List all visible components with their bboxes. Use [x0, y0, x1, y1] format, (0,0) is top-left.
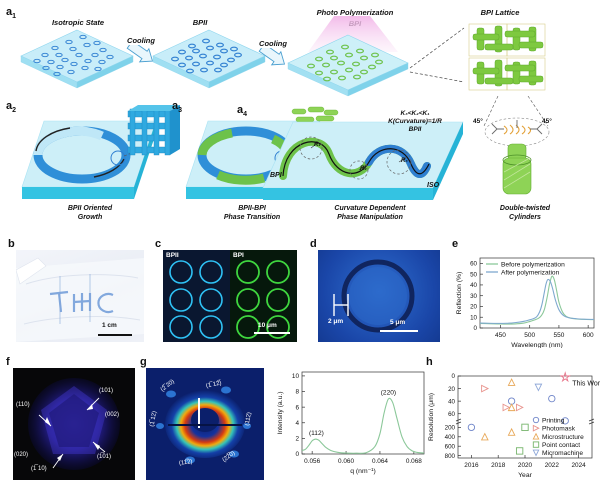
svg-text:0: 0 [295, 451, 299, 458]
panel-label-a1: a1 [6, 6, 16, 20]
svg-text:2016: 2016 [464, 462, 479, 469]
caption-a3: BPII-BPIPhase Transition [192, 205, 312, 223]
panel-c-label-bpi: BPI [233, 252, 244, 259]
svg-text:Micromachine: Micromachine [542, 450, 583, 457]
svg-text:0.068: 0.068 [406, 458, 422, 465]
panel-b-photograph: 1 cm [16, 250, 144, 342]
svg-text:2020: 2020 [518, 462, 533, 469]
svg-text:0.056: 0.056 [304, 458, 320, 465]
panel-c-scale-bar [254, 332, 290, 334]
panel-f-index-002: (002) [105, 412, 119, 418]
panel-g-saxs-pattern: (2̅ 20) (1̅ 12̅) (1̅ 12) (112) (11̅2) (2… [146, 368, 264, 480]
panel-d-thickness-label: 2 μm [328, 318, 343, 325]
svg-text:Resolution (μm): Resolution (μm) [428, 393, 435, 441]
panel-c-fluorescence-bpi: BPI 10 μm [230, 250, 297, 342]
svg-text:550: 550 [553, 332, 564, 339]
caption-double-twisted-cylinders: Double-twistedCylinders [470, 205, 580, 223]
svg-text:0.060: 0.060 [338, 458, 354, 465]
a4-label-bpi: BPI [270, 172, 282, 179]
panel-g-intensity-chart: 02468100.0560.0600.0640.068q (nm⁻¹)Inten… [272, 362, 432, 484]
panel-h-chart: 020406020040060080020162018202020222024Y… [424, 362, 600, 486]
svg-text:Wavelength (nm): Wavelength (nm) [511, 342, 563, 348]
panel-c-fluorescence-bpii: BPII [163, 250, 230, 342]
svg-text:50: 50 [470, 271, 477, 278]
double-twisted-cylinder-model [470, 96, 565, 198]
plate-photopolymerized [286, 32, 411, 98]
svg-text:Year: Year [518, 472, 532, 479]
panel-d-microscopy: 2 μm 5 μm [318, 250, 440, 342]
svg-text:Photomask: Photomask [542, 426, 576, 433]
saxs-intensity-plot: 02468100.0560.0600.0640.068q (nm⁻¹)Inten… [272, 362, 432, 484]
svg-text:Point contact: Point contact [542, 442, 580, 449]
plate-bpii [152, 28, 267, 90]
svg-text:After polymerization: After polymerization [501, 269, 560, 276]
panel-b-scale-label: 1 cm [102, 322, 117, 329]
svg-text:400: 400 [445, 434, 456, 441]
svg-text:q (nm⁻¹): q (nm⁻¹) [350, 468, 376, 475]
arrow-cooling-2 [256, 48, 290, 70]
a4-radius-2: R₂ [360, 166, 367, 172]
stage-label-isotropic: Isotropic State [33, 18, 123, 27]
a4-radius-1: R₁ [314, 142, 320, 148]
resolution-vs-year-plot: 020406020040060080020162018202020222024Y… [424, 362, 600, 486]
panel-label-g: g [140, 356, 147, 368]
panel-d-scale-label: 5 μm [390, 319, 405, 326]
plate-isotropic [20, 28, 135, 90]
svg-text:20: 20 [448, 386, 455, 393]
panel-f-index-110: (110) [16, 402, 30, 408]
angle-label-left: 45° [473, 118, 483, 125]
svg-text:Intensity (a.u.): Intensity (a.u.) [277, 391, 284, 434]
svg-text:800: 800 [445, 453, 456, 460]
panel-label-d: d [310, 238, 317, 250]
panel-b-scale-bar [98, 334, 132, 336]
panel-label-b: b [8, 238, 15, 250]
a4-equation: K₃<K₂<K₁ K(Curvature)=1/R BPII [360, 110, 470, 134]
svg-text:0: 0 [452, 373, 456, 380]
svg-text:30: 30 [470, 293, 477, 300]
lattice-label: BPI Lattice [455, 8, 545, 17]
svg-text:Printing: Printing [542, 417, 565, 424]
svg-text:(112): (112) [309, 430, 324, 437]
svg-text:10: 10 [292, 373, 300, 380]
svg-text:Microstructure: Microstructure [542, 434, 584, 441]
svg-text:600: 600 [583, 332, 594, 339]
svg-text:0: 0 [474, 325, 478, 332]
svg-text:Before polymerization: Before polymerization [501, 261, 565, 268]
panel-c-scale-label: 10 μm [258, 322, 277, 329]
caption-a2: BPII OrientedGrowth [30, 205, 150, 223]
panel-label-a3: a3 [172, 100, 182, 114]
panel-e-chart: 0102030405060450500550600Wavelength (nm)… [452, 248, 598, 348]
svg-text:200: 200 [445, 425, 456, 432]
svg-text:2018: 2018 [491, 462, 506, 469]
angle-label-right: 45° [542, 118, 552, 125]
panel-label-c: c [155, 238, 161, 250]
svg-text:2022: 2022 [545, 462, 560, 469]
svg-text:Reflection (%): Reflection (%) [456, 272, 463, 315]
panel-d-scale-bar [380, 330, 418, 332]
svg-text:10: 10 [470, 314, 477, 321]
caption-a4: Curvature DependentPhase Manipulation [300, 205, 440, 223]
svg-text:6: 6 [295, 404, 299, 411]
svg-text:450: 450 [495, 332, 506, 339]
panel-label-f: f [6, 356, 10, 368]
panel-f-index-1bar01: (1̅01) [97, 454, 111, 460]
svg-text:20: 20 [470, 304, 477, 311]
svg-text:600: 600 [445, 443, 456, 450]
stage-label-bpii: BPII [170, 18, 230, 27]
panel-label-a4: a4 [237, 104, 247, 118]
bpi-lattice-model [455, 18, 560, 98]
svg-text:40: 40 [448, 398, 455, 405]
a4-label-iso: ISO [427, 182, 439, 189]
svg-text:This Work: This Work [572, 380, 600, 387]
svg-text:4: 4 [295, 420, 299, 427]
panel-f-kossel-diagram: (101) (002) (1̅01) (1̅ 10) (020) (110) [13, 368, 135, 480]
panel-f-index-101: (101) [99, 388, 113, 394]
svg-text:60: 60 [448, 411, 455, 418]
panel-c-label-bpii: BPII [166, 252, 179, 259]
svg-text:60: 60 [470, 261, 477, 268]
svg-text:2: 2 [295, 436, 299, 443]
panel-label-a2: a2 [6, 100, 16, 114]
reflection-spectrum-plot: 0102030405060450500550600Wavelength (nm)… [452, 248, 598, 348]
svg-text:2024: 2024 [571, 462, 586, 469]
a4-radius-3: R₃ [401, 158, 408, 164]
svg-text:8: 8 [295, 389, 299, 396]
svg-text:0.064: 0.064 [372, 458, 388, 465]
panel-f-index-020: (020) [14, 452, 28, 458]
svg-text:40: 40 [470, 282, 477, 289]
svg-text:(220): (220) [381, 390, 396, 397]
panel-f-index-1bar10: (1̅ 10) [31, 466, 47, 472]
svg-text:500: 500 [524, 332, 535, 339]
